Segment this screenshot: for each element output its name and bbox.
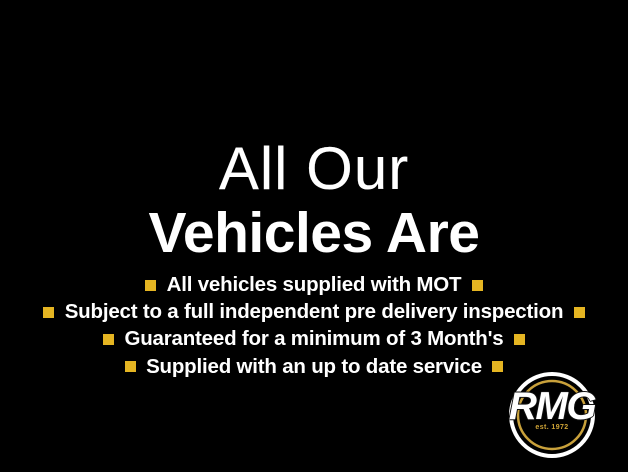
bullet-square-icon [43,307,54,318]
list-item: Guaranteed for a minimum of 3 Month's [0,326,628,352]
headline-line-1: All Our [0,136,628,202]
list-item: Subject to a full independent pre delive… [0,299,628,325]
logo-established-text: est. 1972 [492,424,612,431]
bullet-square-icon [574,307,585,318]
feature-label: Supplied with an up to date service [140,354,488,380]
bullet-square-icon [103,334,114,345]
bullet-square-icon [514,334,525,345]
feature-label: All vehicles supplied with MOT [161,272,468,298]
promo-banner: All Our Vehicles Are All vehicles suppli… [0,0,628,472]
rmg-logo: RMG est. 1972 [492,371,612,463]
feature-label: Subject to a full independent pre delive… [59,299,570,325]
headline-line-2: Vehicles Are [0,202,628,264]
list-item: All vehicles supplied with MOT [0,272,628,298]
headline-block: All Our Vehicles Are [0,136,628,264]
feature-list: All vehicles supplied with MOT Subject t… [0,272,628,381]
bullet-square-icon [472,280,483,291]
bullet-square-icon [145,280,156,291]
logo-wordmark: RMG [492,387,612,427]
feature-label: Guaranteed for a minimum of 3 Month's [118,326,509,352]
bullet-square-icon [125,361,136,372]
